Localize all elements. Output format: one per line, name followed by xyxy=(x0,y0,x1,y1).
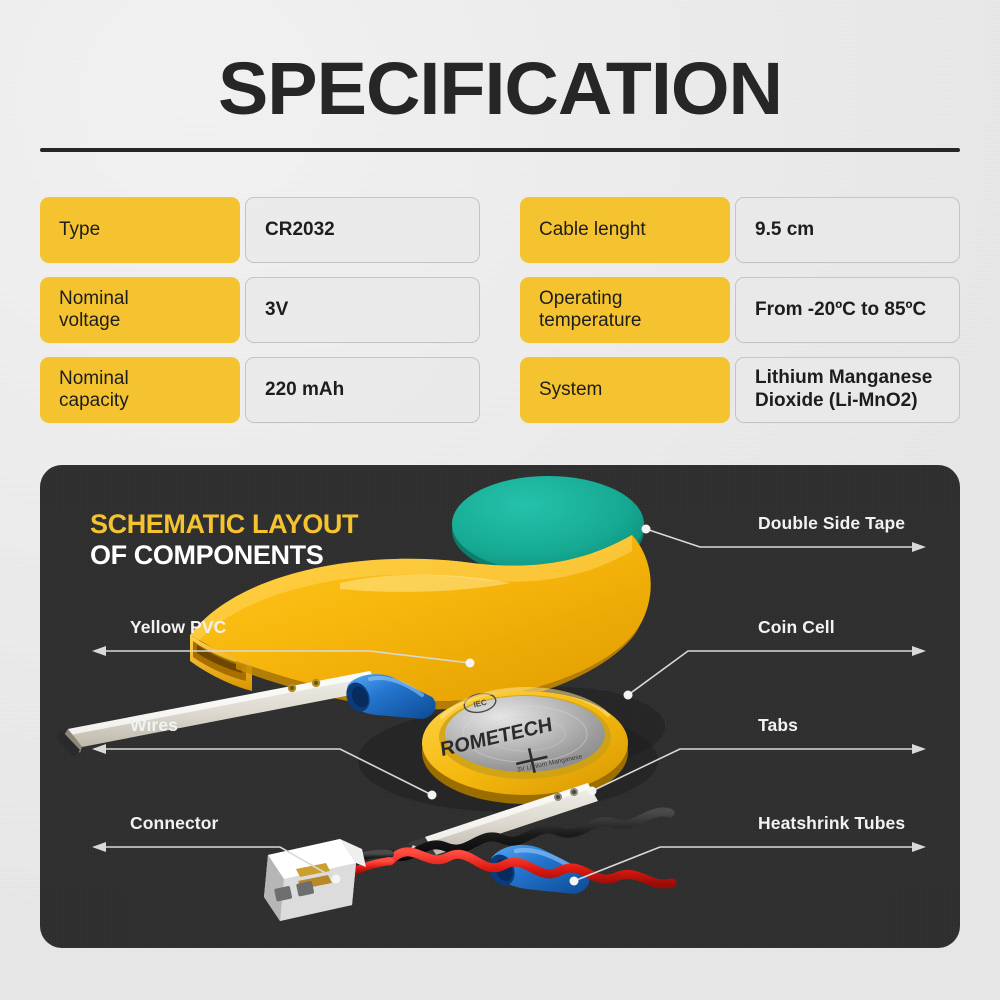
callout-label: Heatshrink Tubes xyxy=(758,813,905,834)
spec-key: Nominal voltage xyxy=(40,277,240,343)
spec-row: Cable lenght 9.5 cm xyxy=(520,197,960,263)
spec-value: 220 mAh xyxy=(245,357,480,423)
callout-label: Yellow PVC xyxy=(130,617,226,638)
leader-line-connector xyxy=(98,847,336,879)
callout-yellow-pvc: Yellow PVC xyxy=(130,617,226,638)
callout-label: Double Side Tape xyxy=(758,513,905,534)
callout-double-side-tape: Double Side Tape xyxy=(758,513,905,534)
spec-value: 9.5 cm xyxy=(735,197,960,263)
spec-key: Type xyxy=(40,197,240,263)
callout-label: Wires xyxy=(130,715,178,736)
title-divider xyxy=(40,148,960,152)
callout-coin-cell: Coin Cell xyxy=(758,617,835,638)
spec-row: Operating temperature From -20ºC to 85ºC xyxy=(520,277,960,343)
spec-row: System Lithium Manganese Dioxide (Li-MnO… xyxy=(520,357,960,423)
leader-line-yellow-pvc xyxy=(98,651,470,663)
spec-key: Cable lenght xyxy=(520,197,730,263)
callout-connector: Connector xyxy=(130,813,218,834)
schematic-heading-line1: SCHEMATIC LAYOUT xyxy=(90,509,358,540)
callout-label: Connector xyxy=(130,813,218,834)
spec-key: System xyxy=(520,357,730,423)
schematic-panel: SCHEMATIC LAYOUT OF COMPONENTS xyxy=(40,465,960,948)
leader-line-coin-cell xyxy=(628,651,920,695)
specification-table: Type CR2032 Nominal voltage 3V Nominal c… xyxy=(40,197,960,423)
callout-tabs: Tabs xyxy=(758,715,798,736)
spec-row: Nominal capacity 220 mAh xyxy=(40,357,480,423)
leader-line-heatshrink-tubes xyxy=(574,847,920,881)
schematic-heading: SCHEMATIC LAYOUT OF COMPONENTS xyxy=(90,509,358,571)
callout-heatshrink-tubes: Heatshrink Tubes xyxy=(758,813,905,834)
spec-value: CR2032 xyxy=(245,197,480,263)
spec-value: Lithium Manganese Dioxide (Li-MnO2) xyxy=(735,357,960,423)
spec-column-right: Cable lenght 9.5 cm Operating temperatur… xyxy=(520,197,960,423)
leader-line-tabs xyxy=(592,749,920,791)
spec-column-left: Type CR2032 Nominal voltage 3V Nominal c… xyxy=(40,197,480,423)
spec-value: From -20ºC to 85ºC xyxy=(735,277,960,343)
spec-row: Type CR2032 xyxy=(40,197,480,263)
callout-label: Coin Cell xyxy=(758,617,835,638)
spec-key: Nominal capacity xyxy=(40,357,240,423)
callout-wires: Wires xyxy=(130,715,178,736)
schematic-heading-line2: OF COMPONENTS xyxy=(90,540,358,571)
spec-row: Nominal voltage 3V xyxy=(40,277,480,343)
leader-line-wires xyxy=(98,749,432,795)
spec-key: Operating temperature xyxy=(520,277,730,343)
callout-label: Tabs xyxy=(758,715,798,736)
page-title: SPECIFICATION xyxy=(0,46,1000,131)
spec-value: 3V xyxy=(245,277,480,343)
